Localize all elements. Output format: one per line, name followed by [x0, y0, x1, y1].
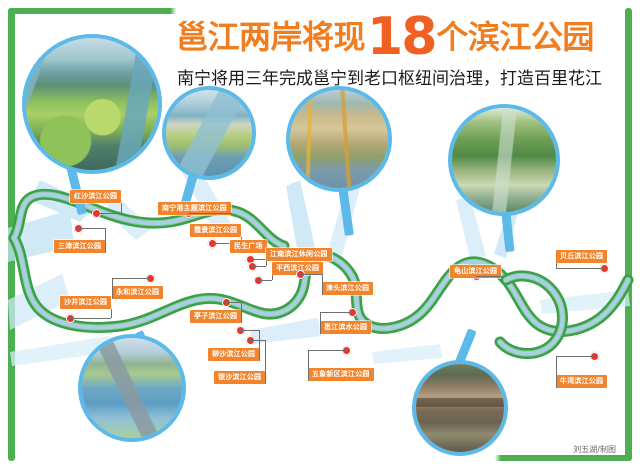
park-label[interactable]: 霞景滨江公园: [190, 224, 241, 237]
photo-green-waterway: [448, 104, 560, 216]
park-leader-line: [556, 268, 604, 269]
park-leader-line: [265, 340, 266, 384]
park-label[interactable]: 红沙滨江公园: [70, 190, 121, 203]
headline-suffix: 个滨江公园: [436, 18, 594, 56]
park-label[interactable]: 五象新区滨江公园: [308, 368, 374, 381]
park-leader-line: [231, 213, 232, 215]
infographic-canvas: 邕江两岸将现18个滨江公园 南宁将用三年完成邕宁到老口枢纽间治理，打造百里花江 …: [0, 0, 640, 469]
credit-line: 刘五湖/制图: [573, 444, 616, 455]
park-leader-line: [266, 261, 267, 266]
park-leader-line: [70, 318, 111, 319]
park-leader-line: [241, 302, 242, 323]
headline-prefix: 邕江两岸将现: [176, 18, 365, 56]
park-label[interactable]: 沙井滨江公园: [60, 296, 111, 309]
park-leader-line: [308, 350, 309, 381]
park-label[interactable]: 贝丘滨江公园: [556, 250, 607, 263]
park-leader-line: [272, 275, 273, 280]
park-leader-line: [556, 356, 557, 388]
park-leader-line: [188, 213, 231, 214]
photo-aerial-park-river: [26, 38, 158, 170]
park-label[interactable]: 银沙滨江公园: [214, 371, 265, 384]
park-label[interactable]: 邕江滨水公园: [320, 321, 371, 334]
photo-construction-site: [286, 86, 392, 192]
photo-aerial-park: [22, 34, 162, 174]
park-label[interactable]: 三津滨江公园: [54, 240, 105, 253]
page-subtitle: 南宁将用三年完成邕宁到老口枢纽间治理，打造百里花江: [177, 64, 602, 89]
park-leader-line: [300, 274, 322, 275]
park-leader-line: [112, 278, 150, 279]
park-label[interactable]: 江南滨江休闲公园: [266, 248, 332, 261]
park-leader-line: [112, 278, 113, 299]
park-leader-line: [320, 312, 352, 313]
park-leader-line: [250, 259, 267, 260]
park-leader-line: [252, 266, 266, 267]
park-leader-line: [240, 330, 259, 331]
headline-number: 18: [367, 7, 435, 67]
header: 邕江两岸将现18个滨江公园 南宁将用三年完成邕宁到老口枢纽间治理，打造百里花江: [176, 14, 622, 92]
park-leader-line: [259, 330, 260, 361]
park-leader-line: [78, 228, 105, 229]
park-leader-line: [320, 312, 321, 334]
park-leader-line: [121, 203, 122, 213]
park-label[interactable]: 亭子滨江公园: [190, 310, 241, 323]
park-label[interactable]: 津头滨江公园: [322, 282, 373, 295]
park-label[interactable]: 牛湾滨江公园: [556, 375, 607, 388]
park-leader-line: [476, 276, 501, 277]
park-leader-line: [556, 356, 594, 357]
photo-riverside-walk: [162, 86, 256, 180]
park-leader-line: [96, 213, 121, 214]
park-leader-line: [226, 302, 241, 303]
park-leader-line: [111, 309, 112, 318]
park-leader-line: [250, 340, 265, 341]
park-label[interactable]: 永和滨江公园: [112, 286, 163, 299]
page-title: 邕江两岸将现18个滨江公园: [176, 16, 594, 58]
park-leader-line: [308, 350, 346, 351]
photo-old-town-houses: [412, 360, 508, 456]
park-leader-line: [501, 276, 502, 278]
park-label[interactable]: 柳沙滨江公园: [208, 348, 259, 361]
park-leader-line: [258, 280, 272, 281]
park-leader-line: [105, 228, 106, 253]
park-leader-line: [322, 274, 323, 295]
photo-bridge-city: [78, 334, 186, 442]
park-label[interactable]: 民生广场: [230, 240, 267, 253]
